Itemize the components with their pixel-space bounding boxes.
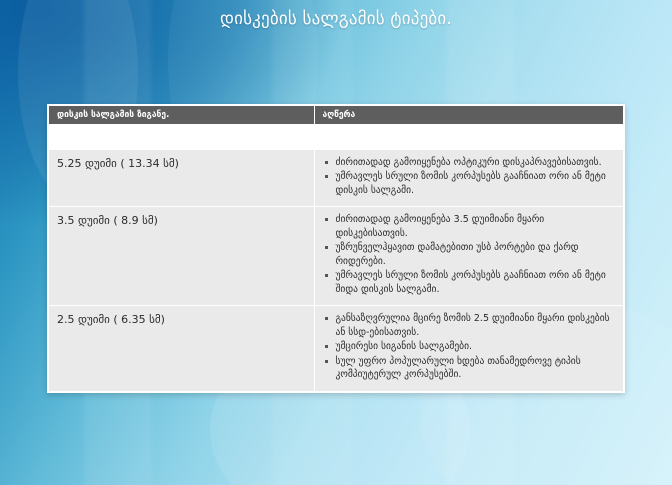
description-bullet-item: უმრავლეს სრული ზომის კორპუსებს გააჩნიათ …: [323, 170, 616, 197]
description-bullet-item: ძირითადად გამოიყენება ოპტიკური დისკაპრავ…: [323, 156, 616, 170]
disk-bay-size-cell: 3.5 დუიმი ( 8.9 სმ): [49, 207, 314, 306]
description-bullet-item: უმცირესი სიგანის სალგამები.: [323, 340, 616, 354]
description-bullet-item: ძირითადად გამოიყენება 3.5 დუიმიანი მყარი…: [323, 213, 616, 240]
table-row: 3.5 დუიმი ( 8.9 სმ)ძირითადად გამოიყენება…: [49, 207, 623, 306]
slide-canvas: დისკების სალგამის ტიპები. დისკის სალგამი…: [0, 0, 672, 485]
disk-bay-table-card: დისკის სალგამის ზიგანე. აღწერა 5.25 დუიმ…: [47, 104, 625, 393]
disk-bay-description-cell: ძირითადად გამოიყენება 3.5 დუიმიანი მყარი…: [314, 207, 623, 306]
description-bullet-item: უმრავლეს სრული ზომის კორპუსებს გააჩნიათ …: [323, 269, 616, 296]
table-header-row: დისკის სალგამის ზიგანე. აღწერა: [49, 106, 623, 124]
table-header: დისკის სალგამის ზიგანე. აღწერა: [49, 106, 623, 124]
table-spacer-body: [49, 124, 623, 149]
disk-bay-table: დისკის სალგამის ზიგანე. აღწერა 5.25 დუიმ…: [49, 106, 623, 391]
disk-bay-size-cell: 5.25 დუიმი ( 13.34 სმ): [49, 149, 314, 207]
table-body: 5.25 დუიმი ( 13.34 სმ)ძირითადად გამოიყენ…: [49, 149, 623, 391]
table-row: 2.5 დუიმი ( 6.35 სმ)განსაზღვრულია მცირე …: [49, 306, 623, 391]
spacer-cell-right: [314, 124, 623, 149]
description-bullet-list: განსაზღვრულია მცირე ზომის 2.5 დუიმიანი მ…: [323, 312, 616, 382]
disk-bay-description-cell: ძირითადად გამოიყენება ოპტიკური დისკაპრავ…: [314, 149, 623, 207]
column-header-description: აღწერა: [314, 106, 623, 124]
column-header-size: დისკის სალგამის ზიგანე.: [49, 106, 314, 124]
description-bullet-item: უზრუნველჰყავით დამატებითი უსბ პორტები და…: [323, 241, 616, 268]
description-bullet-list: ძირითადად გამოიყენება 3.5 დუიმიანი მყარი…: [323, 213, 616, 296]
table-top-spacer-row: [49, 124, 623, 149]
spacer-cell-left: [49, 124, 314, 149]
description-bullet-list: ძირითადად გამოიყენება ოპტიკური დისკაპრავ…: [323, 156, 616, 198]
disk-bay-description-cell: განსაზღვრულია მცირე ზომის 2.5 დუიმიანი მ…: [314, 306, 623, 391]
slide-title: დისკების სალგამის ტიპები.: [0, 8, 672, 30]
table-row: 5.25 დუიმი ( 13.34 სმ)ძირითადად გამოიყენ…: [49, 149, 623, 207]
description-bullet-item: სულ უფრო პოპულარული ხდება თანამედროვე ტი…: [323, 355, 616, 382]
description-bullet-item: განსაზღვრულია მცირე ზომის 2.5 დუიმიანი მ…: [323, 312, 616, 339]
disk-bay-size-cell: 2.5 დუიმი ( 6.35 სმ): [49, 306, 314, 391]
